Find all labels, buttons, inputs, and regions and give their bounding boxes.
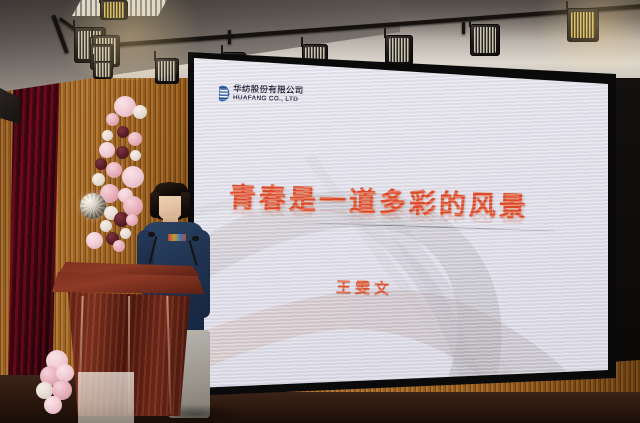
balloon-garland bbox=[99, 142, 115, 158]
huafang-logo-icon bbox=[215, 85, 230, 102]
balloon-garland bbox=[102, 130, 113, 141]
disco-ball-icon bbox=[80, 193, 106, 219]
balloon-garland bbox=[120, 228, 131, 239]
speaker-hair-side-left bbox=[150, 192, 159, 218]
balloon-garland bbox=[113, 240, 125, 252]
truss-drop-1 bbox=[228, 30, 231, 44]
speaker-shirt-logo bbox=[168, 234, 186, 241]
balloon-garland bbox=[92, 173, 105, 186]
company-name-en: HUAFANG CO., LTD bbox=[233, 96, 304, 104]
balloon-garland bbox=[126, 214, 138, 226]
truss-drop-2 bbox=[462, 22, 465, 34]
balloon-garland bbox=[106, 113, 119, 126]
company-logo: 华纺股份有限公司 HUAFANG CO., LTD bbox=[215, 85, 304, 104]
presenter-name: 王雯文 bbox=[336, 276, 394, 299]
microphone-head-icon bbox=[148, 232, 155, 237]
balloon-garland bbox=[117, 126, 129, 138]
balloon-garland bbox=[116, 146, 129, 159]
projection-screen: 华纺股份有限公司 HUAFANG CO., LTD 青春是一道多彩的风景 青春是… bbox=[194, 58, 608, 388]
balloon-garland bbox=[133, 105, 147, 119]
balloon-garland bbox=[122, 166, 144, 188]
balloon-garland bbox=[44, 396, 62, 414]
balloon-garland bbox=[86, 232, 103, 249]
balloon-garland bbox=[128, 132, 142, 146]
balloon-garland bbox=[106, 162, 122, 178]
lectern-base-panel bbox=[78, 372, 134, 423]
presentation-photo-scene: 华纺股份有限公司 HUAFANG CO., LTD 青春是一道多彩的风景 青春是… bbox=[0, 0, 640, 423]
microphone-head-icon bbox=[192, 236, 199, 241]
balloon-garland bbox=[130, 150, 141, 161]
speaker-hair-side-right bbox=[181, 192, 190, 218]
balloon-garland bbox=[100, 220, 112, 232]
